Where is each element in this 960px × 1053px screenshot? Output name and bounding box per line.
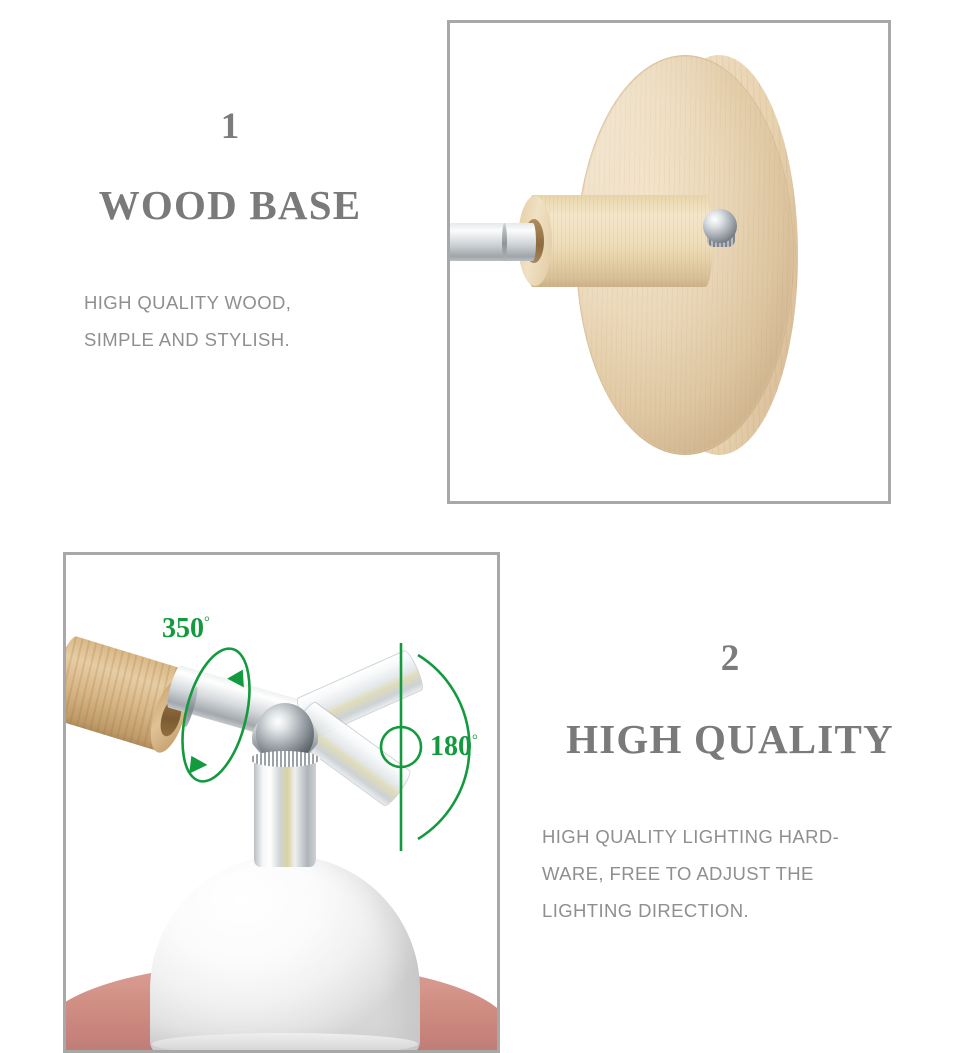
chrome-neck-cylinder	[254, 755, 316, 867]
annotation-label-180-degrees: 180°	[430, 733, 478, 761]
feature-description-wood-base: HIGH QUALITY WOOD, SIMPLE AND STYLISH.	[40, 284, 420, 358]
feature-description-line: LIGHTING DIRECTION.	[542, 892, 940, 929]
chrome-neck-collar	[250, 751, 320, 767]
feature-number-2: 2	[520, 640, 940, 677]
white-dome-shade	[150, 855, 420, 1050]
product-photo-adjustable-joint: 350° 180°	[66, 555, 497, 1050]
white-dome-shade-lip	[152, 1033, 418, 1050]
wood-arm-cylinder	[525, 195, 713, 287]
product-feature-page: 1 WOOD BASE HIGH QUALITY WOOD, SIMPLE AN…	[0, 0, 960, 1053]
degree-symbol-icon: °	[472, 733, 478, 749]
degree-symbol-icon: °	[204, 615, 210, 631]
feature-description-line: SIMPLE AND STYLISH.	[84, 321, 420, 358]
photo-frame-wood-base	[447, 20, 891, 504]
thumbscrew-head	[703, 209, 737, 243]
feature-block-high-quality: 2 HIGH QUALITY HIGH QUALITY LIGHTING HAR…	[520, 640, 940, 929]
feature-title-wood-base: WOOD BASE	[40, 183, 420, 228]
feature-description-line: HIGH QUALITY LIGHTING HARD-	[542, 818, 940, 855]
feature-description-line: HIGH QUALITY WOOD,	[84, 284, 420, 321]
feature-block-wood-base: 1 WOOD BASE HIGH QUALITY WOOD, SIMPLE AN…	[40, 108, 420, 358]
product-photo-wood-base	[450, 23, 888, 501]
feature-title-high-quality: HIGH QUALITY	[520, 717, 940, 762]
feature-description-high-quality: HIGH QUALITY LIGHTING HARD- WARE, FREE T…	[520, 818, 940, 929]
chrome-rod-band	[502, 223, 507, 261]
feature-number-1: 1	[40, 108, 420, 145]
annotation-value-180: 180	[430, 731, 472, 762]
photo-frame-adjustable-joint: 350° 180°	[63, 552, 500, 1053]
feature-description-line: WARE, FREE TO ADJUST THE	[542, 855, 940, 892]
chrome-rod	[450, 223, 536, 261]
annotation-value-350: 350	[162, 613, 204, 644]
annotation-label-350-degrees: 350°	[162, 615, 210, 643]
rotation-arrow-bottom	[184, 752, 208, 774]
